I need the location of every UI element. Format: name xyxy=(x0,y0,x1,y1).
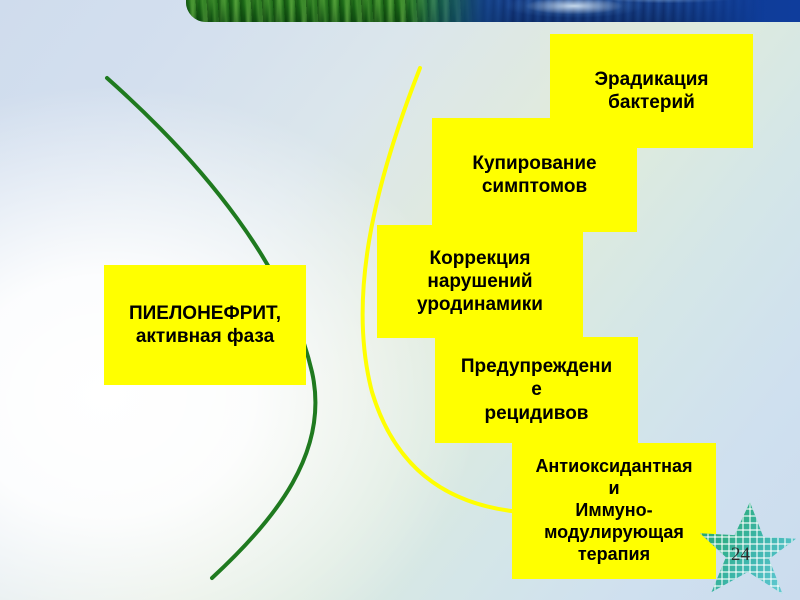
grass-image xyxy=(186,0,486,22)
water-image xyxy=(464,0,764,22)
star-decoration: 24 xyxy=(700,502,796,594)
slide-canvas: Эрадикация бактерий Купирование симптомо… xyxy=(0,0,800,600)
box-diagnosis-pyelonephritis[interactable]: ПИЕЛОНЕФРИТ, активная фаза xyxy=(104,265,306,385)
box-relapse-prevention[interactable]: Предупреждени е рецидивов xyxy=(435,337,638,443)
decorative-header-banner xyxy=(186,0,800,22)
page-number: 24 xyxy=(731,544,750,566)
box-urodynamics[interactable]: Коррекция нарушений уродинамики xyxy=(377,225,583,338)
box-symptoms[interactable]: Купирование симптомов xyxy=(432,118,637,232)
box-antioxidant-immunomodulating-therapy[interactable]: Антиоксидантная и Иммуно- модулирующая т… xyxy=(512,443,716,579)
